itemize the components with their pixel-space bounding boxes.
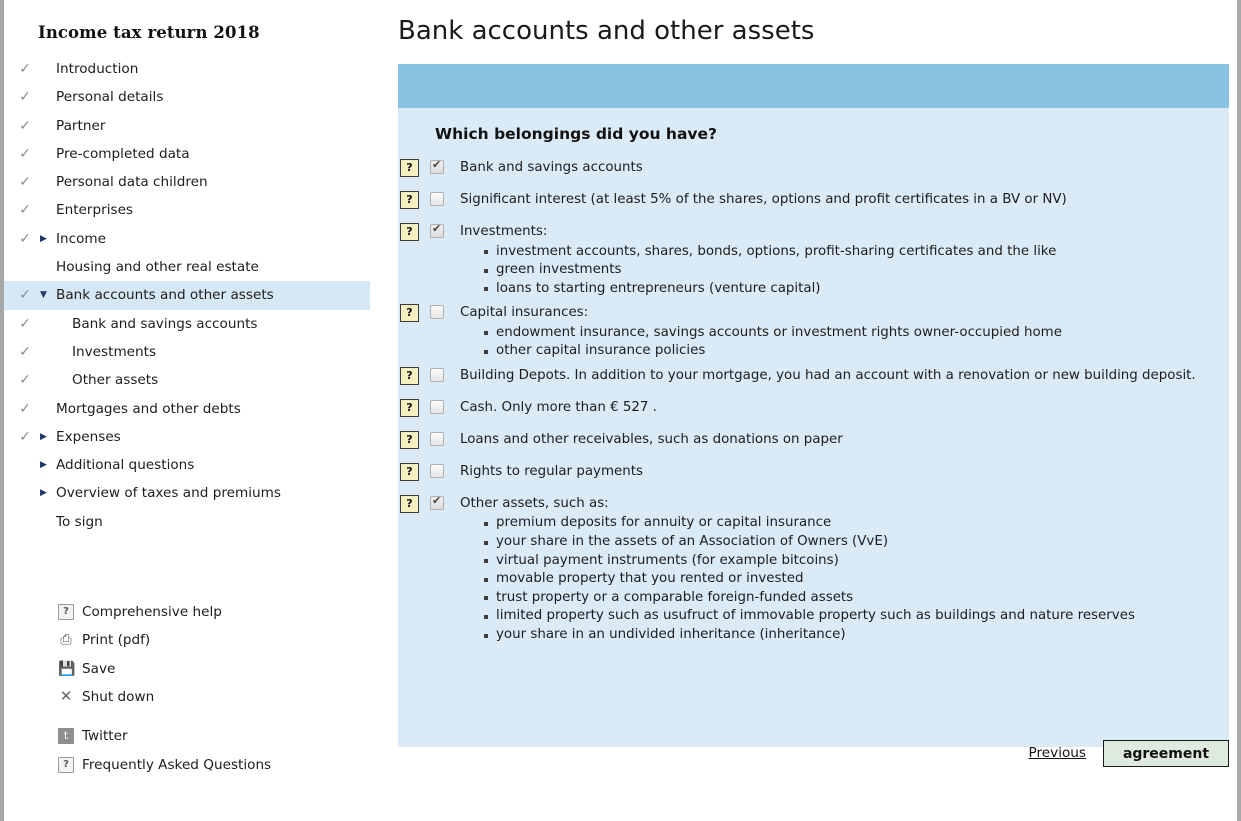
checkmark-icon: ✓ [18,395,32,423]
option-label[interactable]: Building Depots. In addition to your mor… [460,367,1207,385]
checkbox[interactable] [430,400,444,414]
checkmark-icon: ✓ [18,196,32,224]
application-window: Income tax return 2018 ✓Introduction✓Per… [0,0,1241,821]
tool-item-label: Comprehensive help [82,598,222,626]
checkmark-icon: ✓ [18,366,32,394]
sidebar-item-income[interactable]: ✓▶Income [4,225,370,253]
option-row: ?Cash. Only more than € 527 . [398,399,1229,425]
sidebar-item-personal-data-children[interactable]: ✓Personal data children [4,168,370,196]
sidebar-item-expenses[interactable]: ✓▶Expenses [4,423,370,451]
sidebar-item-label: Pre-completed data [56,140,190,168]
help-question-icon[interactable]: ? [400,159,419,177]
content-panel: Which belongings did you have? ?Bank and… [398,64,1229,747]
help-question-icon[interactable]: ? [400,399,419,417]
checkbox[interactable] [430,464,444,478]
tool-item-comprehensive-help[interactable]: ?Comprehensive help [4,598,390,626]
tool-item-save[interactable]: 💾Save [4,655,390,683]
help-question-icon[interactable]: ? [400,463,419,481]
sidebar-item-personal-details[interactable]: ✓Personal details [4,83,370,111]
tool-item-print-pdf[interactable]: ⎙Print (pdf) [4,626,390,654]
options-list: ?Bank and savings accounts?Significant i… [398,159,1229,645]
option-row: ?Building Depots. In addition to your mo… [398,367,1229,393]
twitter-icon: t [58,728,74,744]
checkbox[interactable] [430,432,444,446]
sidebar-item-partner[interactable]: ✓Partner [4,112,370,140]
question-heading: Which belongings did you have? [435,125,1229,143]
help-question-icon[interactable]: ? [400,367,419,385]
checkbox[interactable] [430,305,444,319]
sidebar-item-label: Investments [72,338,156,366]
sidebar-item-label: Housing and other real estate [56,253,259,281]
chevron-right-icon[interactable]: ▶ [40,225,52,253]
checkmark-icon: ✓ [18,112,32,140]
sidebar-item-label: Mortgages and other debts [56,395,241,423]
sidebar-item-housing-and-other-real-estate[interactable]: Housing and other real estate [4,253,370,281]
form-actions: Previous agreement [398,740,1229,770]
chevron-right-icon[interactable]: ▶ [40,423,52,451]
option-label[interactable]: Investments: [460,223,1207,241]
option-sublist-item: premium deposits for annuity or capital … [460,514,1207,533]
option-sublist: investment accounts, shares, bonds, opti… [460,243,1207,299]
option-label[interactable]: Bank and savings accounts [460,159,1207,177]
checkbox[interactable] [430,496,444,510]
sidebar-item-pre-completed-data[interactable]: ✓Pre-completed data [4,140,370,168]
checkmark-icon: ✓ [18,140,32,168]
panel-header-band [398,64,1229,108]
option-sublist-item: your share in the assets of an Associati… [460,533,1207,552]
tool-item-shut-down[interactable]: ✕Shut down [4,683,390,711]
faq-icon: ? [58,757,74,773]
option-sublist: premium deposits for annuity or capital … [460,514,1207,644]
chevron-right-icon[interactable]: ▶ [40,479,52,507]
tool-item-twitter[interactable]: tTwitter [4,722,390,750]
sidebar-item-additional-questions[interactable]: ▶Additional questions [4,451,370,479]
sidebar-item-overview-of-taxes-and-premiums[interactable]: ▶Overview of taxes and premiums [4,479,370,507]
option-row: ?Significant interest (at least 5% of th… [398,191,1229,217]
option-sublist-item: investment accounts, shares, bonds, opti… [460,243,1207,262]
sidebar-item-introduction[interactable]: ✓Introduction [4,55,370,83]
sidebar-item-label: Income [56,225,106,253]
option-sublist-item: loans to starting entrepreneurs (venture… [460,280,1207,299]
sidebar-item-label: Expenses [56,423,121,451]
option-sublist-item: your share in an undivided inheritance (… [460,626,1207,645]
main-content: Bank accounts and other assets Which bel… [390,0,1237,821]
previous-link[interactable]: Previous [1029,745,1086,761]
printer-icon: ⎙ [58,632,74,648]
tool-item-frequently-asked-questions[interactable]: ?Frequently Asked Questions [4,751,390,779]
option-sublist: endowment insurance, savings accounts or… [460,324,1207,361]
option-label[interactable]: Other assets, such as: [460,495,1207,513]
option-row: ?Loans and other receivables, such as do… [398,431,1229,457]
option-label[interactable]: Significant interest (at least 5% of the… [460,191,1207,209]
navigation-list: ✓Introduction✓Personal details✓Partner✓P… [4,55,390,536]
agreement-button[interactable]: agreement [1103,740,1229,767]
option-sublist-item: limited property such as usufruct of imm… [460,607,1207,626]
option-label[interactable]: Loans and other receivables, such as don… [460,431,1207,449]
tool-item-label: Shut down [82,683,154,711]
checkbox[interactable] [430,160,444,174]
help-icon: ? [58,604,74,620]
option-sublist-item: trust property or a comparable foreign-f… [460,589,1207,608]
chevron-down-icon[interactable]: ▼ [40,281,52,309]
sidebar-item-label: Partner [56,112,105,140]
option-sublist-item: endowment insurance, savings accounts or… [460,324,1207,343]
checkbox[interactable] [430,192,444,206]
checkmark-icon: ✓ [18,310,32,338]
page-title: Bank accounts and other assets [390,0,1237,46]
option-sublist-item: movable property that you rented or inve… [460,570,1207,589]
tool-item-label: Save [82,655,115,683]
option-row: ?Capital insurances:endowment insurance,… [398,304,1229,361]
sidebar-title: Income tax return 2018 [4,0,390,42]
checkmark-icon: ✓ [18,55,32,83]
option-label[interactable]: Cash. Only more than € 527 . [460,399,1207,417]
option-row: ?Other assets, such as:premium deposits … [398,495,1229,645]
checkbox[interactable] [430,224,444,238]
tool-item-label: Frequently Asked Questions [82,751,271,779]
sidebar-item-label: Bank accounts and other assets [56,281,274,309]
help-question-icon[interactable]: ? [400,431,419,449]
checkmark-icon: ✓ [18,225,32,253]
checkmark-icon: ✓ [18,83,32,111]
help-question-icon[interactable]: ? [400,191,419,209]
sidebar-item-enterprises[interactable]: ✓Enterprises [4,196,370,224]
sidebar-item-label: Personal data children [56,168,208,196]
help-question-icon[interactable]: ? [400,495,419,513]
sidebar-item-label: Additional questions [56,451,194,479]
sidebar-item-label: Other assets [72,366,158,394]
sidebar-item-to-sign[interactable]: To sign [4,508,370,536]
option-sublist-item: green investments [460,261,1207,280]
help-question-icon[interactable]: ? [400,304,419,322]
checkbox[interactable] [430,368,444,382]
sidebar-item-label: Personal details [56,83,163,111]
checkmark-icon: ✓ [18,281,32,309]
close-x-icon: ✕ [58,689,74,705]
panel-body: Which belongings did you have? ?Bank and… [398,108,1229,747]
sidebar-item-label: Enterprises [56,196,133,224]
option-row: ?Bank and savings accounts [398,159,1229,185]
option-row: ?Rights to regular payments [398,463,1229,489]
sidebar-item-bank-accounts-and-other-assets[interactable]: ✓▼Bank accounts and other assets [4,281,370,309]
option-label[interactable]: Capital insurances: [460,304,1207,322]
tool-item-label: Print (pdf) [82,626,150,654]
sidebar-item-label: Overview of taxes and premiums [56,479,281,507]
sidebar-item-mortgages-and-other-debts[interactable]: ✓Mortgages and other debts [4,395,370,423]
option-sublist-item: other capital insurance policies [460,342,1207,361]
tools-list: ?Comprehensive help⎙Print (pdf)💾Save✕Shu… [4,598,390,779]
sidebar-item-investments[interactable]: ✓Investments [4,338,370,366]
checkmark-icon: ✓ [18,168,32,196]
option-label[interactable]: Rights to regular payments [460,463,1207,481]
checkmark-icon: ✓ [18,423,32,451]
sidebar-item-bank-and-savings-accounts[interactable]: ✓Bank and savings accounts [4,310,370,338]
sidebar: Income tax return 2018 ✓Introduction✓Per… [4,0,390,821]
sidebar-item-label: To sign [56,508,103,536]
help-question-icon[interactable]: ? [400,223,419,241]
sidebar-item-label: Introduction [56,55,138,83]
sidebar-item-other-assets[interactable]: ✓Other assets [4,366,370,394]
option-sublist-item: virtual payment instruments (for example… [460,552,1207,571]
option-row: ?Investments:investment accounts, shares… [398,223,1229,298]
tool-item-label: Twitter [82,722,128,750]
floppy-disk-icon: 💾 [58,661,74,677]
chevron-right-icon[interactable]: ▶ [40,451,52,479]
checkmark-icon: ✓ [18,338,32,366]
sidebar-item-label: Bank and savings accounts [72,310,257,338]
